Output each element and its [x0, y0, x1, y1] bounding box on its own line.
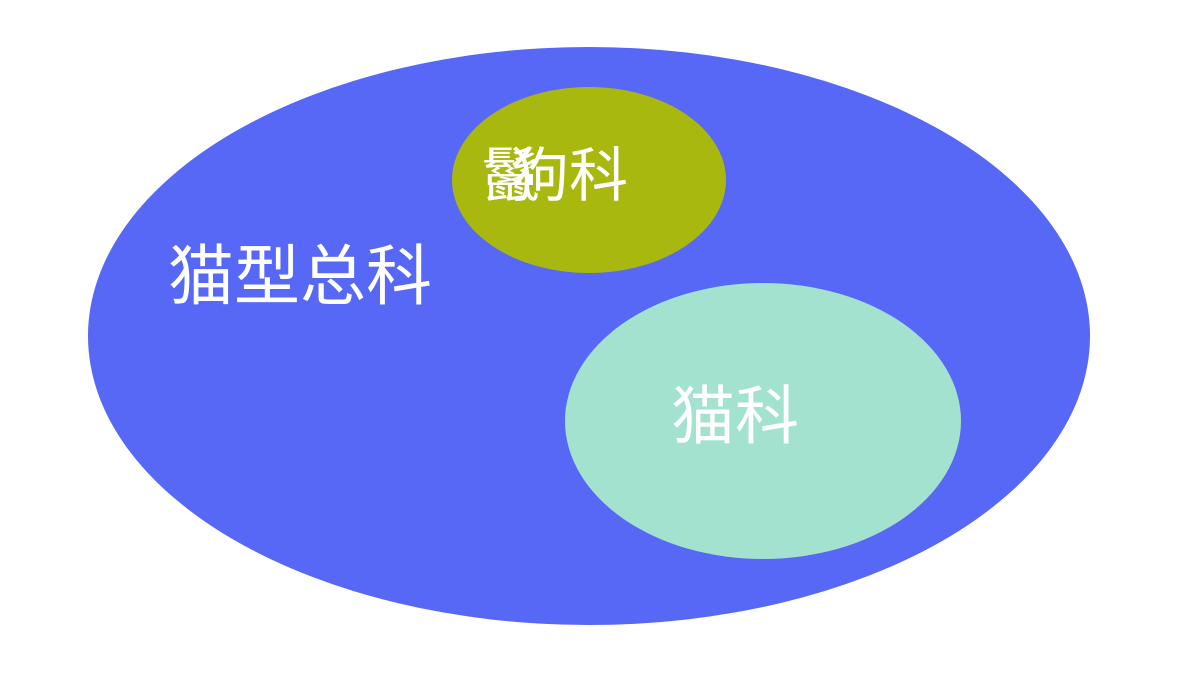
euler-diagram-svg: 猫型总科 鬣狗科 猫科 [0, 0, 1200, 700]
set-label-feliformia: 猫型总科 [168, 238, 432, 315]
set-label-hyaenidae-rest: 狗科 [510, 141, 628, 210]
euler-diagram-canvas: 猫型总科 鬣狗科 猫科 [0, 0, 1200, 700]
set-label-felidae: 猫科 [671, 381, 799, 455]
set-label-hyaenidae: 鬣狗科 [481, 141, 628, 210]
